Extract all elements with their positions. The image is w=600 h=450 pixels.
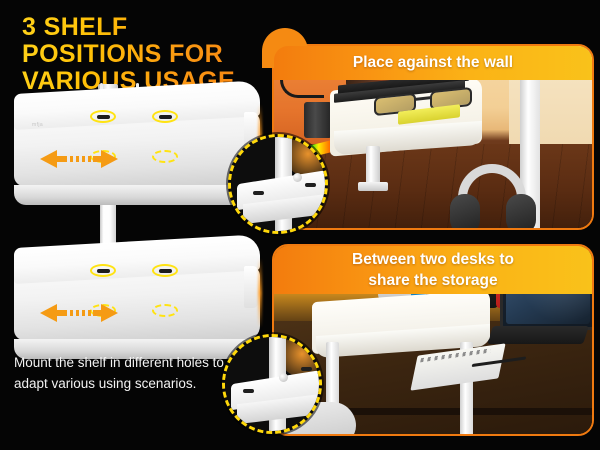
banner-between-two-desks: Between two desks to share the storage — [274, 246, 592, 294]
banner-text-line-1: Place against the wall — [353, 54, 513, 71]
banner-text-line-2: share the storage — [274, 271, 592, 292]
magnifier-content-bottom — [225, 337, 319, 431]
lower-shelf-product — [14, 248, 260, 356]
upper-shelf-lip — [14, 185, 260, 205]
lower-shelf-edge-glow — [258, 258, 262, 328]
magnified-screw-2 — [279, 373, 288, 382]
panel-between-two-desks: 0 35 — [272, 244, 594, 436]
magnifier-inset-bottom — [222, 334, 322, 434]
magnified-hole-left-2 — [243, 389, 254, 393]
headphone-cup-right — [506, 194, 536, 230]
magnified-hole-right-2 — [301, 367, 312, 371]
magnifier-content-top — [231, 137, 325, 231]
magnifier-inset-top — [228, 134, 328, 234]
hole-highlight-slot-4 — [152, 264, 178, 277]
magnified-screw — [293, 173, 302, 182]
caption-text: Mount the shelf in different holes to ad… — [14, 352, 244, 395]
upper-shelf-product: mfja — [14, 94, 260, 202]
brand-mark: mfja — [32, 122, 43, 128]
banner-text-line-1: Between two desks to — [274, 250, 592, 271]
shelf-mount-foot — [358, 182, 388, 191]
hole-highlight-slot-1 — [90, 110, 116, 123]
hanging-headphones — [450, 164, 536, 230]
banner-place-against-wall: Place against the wall — [274, 46, 592, 80]
headphone-cup-left — [450, 194, 480, 230]
shelf-leg-left — [326, 342, 339, 410]
hole-highlight-ring-4 — [152, 304, 178, 317]
infographic-root: 3 Shelf Positions For Various Usage mfja — [0, 0, 600, 450]
page-title-line-1: 3 Shelf Positions For — [22, 13, 223, 68]
shelf-mount-leg — [366, 146, 380, 184]
hole-highlight-slot-3 — [90, 264, 116, 277]
lower-shelf-side-notch — [244, 266, 258, 308]
adjust-direction-arrow-icon-2 — [40, 304, 118, 322]
magnified-hole-right — [305, 183, 316, 187]
hole-highlight-slot-2 — [152, 110, 178, 123]
adjust-direction-arrow-icon — [40, 150, 118, 168]
hole-highlight-ring-2 — [152, 150, 178, 163]
magnified-hole-left — [253, 191, 264, 195]
tablet-keyboard — [487, 326, 589, 344]
glasses-bridge — [415, 96, 431, 101]
mounted-shelf-2 — [312, 296, 490, 348]
pen-holder — [304, 102, 332, 138]
